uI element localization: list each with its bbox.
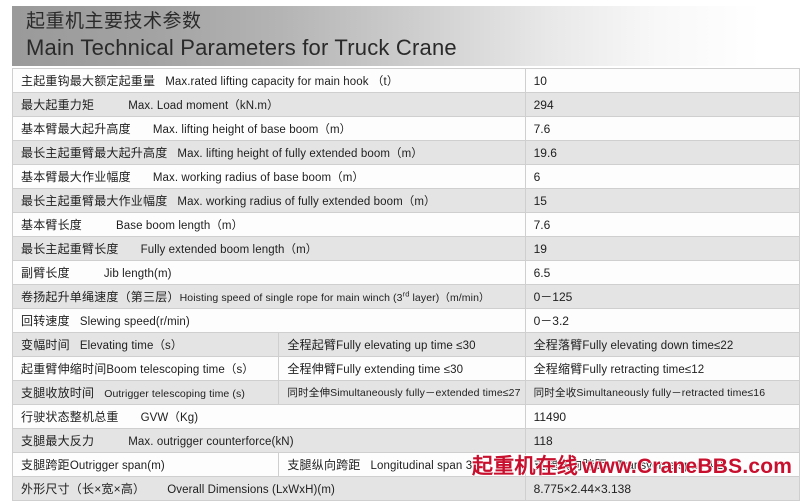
parameter-value-cell: 11490 xyxy=(525,405,799,429)
timing-sim-retract-en: Simultaneously fully－retracted time≤16 xyxy=(576,387,765,399)
table-row: 变幅时间Elevating time（s） 全程起臂Fully elevatin… xyxy=(13,333,800,357)
parameter-label-en: Base boom length（m） xyxy=(116,220,243,232)
timing-down-cn: 全程落臂 xyxy=(534,338,583,352)
parameter-label-en: Max.rated lifting capacity for main hook… xyxy=(165,76,398,88)
longitudinal-span-cn: 支腿纵向跨距 xyxy=(287,458,360,472)
table-row: 最长主起重臂最大起升高度Max. lifting height of fully… xyxy=(13,141,800,165)
parameter-value-cell: 6 xyxy=(525,165,799,189)
table-row: 行驶状态整机总重GVW（Kg) 11490 xyxy=(13,405,800,429)
page-header-banner: 起重机主要技术参数 Main Technical Parameters for … xyxy=(12,6,800,66)
table-row: 基本臂长度Base boom length（m） 7.6 xyxy=(13,213,800,237)
spec-sheet-page: 起重机主要技术参数 Main Technical Parameters for … xyxy=(0,0,800,486)
parameter-label-cn: 外形尺寸（长×宽×高） xyxy=(21,482,145,496)
timing-label-cell: 变幅时间Elevating time（s） xyxy=(13,333,279,357)
parameter-label-cell: 主起重钩最大额定起重量Max.rated lifting capacity fo… xyxy=(13,69,526,93)
parameter-label-cell: 最长主起重臂最大作业幅度Max. working radius of fully… xyxy=(13,189,526,213)
parameter-label-en: Max. working radius of fully extended bo… xyxy=(177,196,435,208)
timing-extend-en: Fully extending time ≤30 xyxy=(336,364,463,376)
parameter-value-cell: 6.5 xyxy=(525,261,799,285)
parameter-value: 19.6 xyxy=(534,146,557,160)
table-row: 基本臂最大起升高度Max. lifting height of base boo… xyxy=(13,117,800,141)
parameter-value-cell: 0－3.2 xyxy=(525,309,799,333)
timing-down-en: Fully elevating down time≤22 xyxy=(582,340,733,352)
parameter-value: 7.6 xyxy=(534,218,551,232)
table-row: 最长主起重臂长度Fully extended boom length（m） 19 xyxy=(13,237,800,261)
parameter-value-cell: 118 xyxy=(525,429,799,453)
parameter-label-en: Jib length(m) xyxy=(104,268,172,280)
timing-retract-en: Fully retracting time≤12 xyxy=(582,364,704,376)
parameter-value: 8.775×2.44×3.138 xyxy=(534,482,631,496)
timing-label-en: Boom telescoping time（s） xyxy=(106,364,254,376)
parameter-label-en: Max. lifting height of base boom（m） xyxy=(153,124,351,136)
parameter-value-cell: 19 xyxy=(525,237,799,261)
table-row: 基本臂最大作业幅度Max. working radius of base boo… xyxy=(13,165,800,189)
parameter-label-cell: 副臂长度Jib length(m) xyxy=(13,261,526,285)
timing-extend-cn: 全程伸臂 xyxy=(287,362,336,376)
parameter-value-cell: 0－125 xyxy=(525,285,799,309)
page-title-chinese: 起重机主要技术参数 xyxy=(26,9,800,34)
parameter-label-cn: 最长主起重臂长度 xyxy=(21,242,119,256)
parameter-label-cell: 基本臂最大作业幅度Max. working radius of base boo… xyxy=(13,165,526,189)
transverse-span-cell: 支腿横向跨距Transverse span 4.2 xyxy=(525,453,799,477)
timing-label-cn: 变幅时间 xyxy=(21,338,70,352)
parameter-label-en: Max. working radius of base boom（m） xyxy=(153,172,364,184)
parameter-label-cell: 卷扬起升单绳速度（第三层）Hoisting speed of single ro… xyxy=(13,285,526,309)
table-row: 最长主起重臂最大作业幅度Max. working radius of fully… xyxy=(13,189,800,213)
parameter-value-cell: 10 xyxy=(525,69,799,93)
timing-label-en: Outrigger telescoping time (s) xyxy=(104,388,245,400)
timing-label-cell: 支腿收放时间Outrigger telescoping time (s) xyxy=(13,381,279,405)
table-row: 外形尺寸（长×宽×高）Overall Dimensions (LxWxH)(m)… xyxy=(13,477,800,501)
timing-up-en: Fully elevating up time ≤30 xyxy=(336,340,475,352)
parameter-value: 0－3.2 xyxy=(534,314,569,328)
parameter-label-cn: 基本臂最大作业幅度 xyxy=(21,170,131,184)
transverse-span-cn: 支腿横向跨距 xyxy=(534,458,607,472)
parameter-label-cn: 最长主起重臂最大起升高度 xyxy=(21,146,167,160)
parameter-label-cell: 基本臂最大起升高度Max. lifting height of base boo… xyxy=(13,117,526,141)
parameter-value-cell: 7.6 xyxy=(525,117,799,141)
timing-sim-extend-en: Simultaneously fully－extended time≤27 xyxy=(330,387,520,399)
timing-retract-cell: 全程缩臂Fully retracting time≤12 xyxy=(525,357,799,381)
timing-sim-extend-cn: 同时全伸 xyxy=(287,387,330,399)
parameter-label-cn: 主起重钩最大额定起重量 xyxy=(21,74,155,88)
table-row: 主起重钩最大额定起重量Max.rated lifting capacity fo… xyxy=(13,69,800,93)
parameter-label-cell: 行驶状态整机总重GVW（Kg) xyxy=(13,405,526,429)
parameter-value-cell: 15 xyxy=(525,189,799,213)
parameter-value: 15 xyxy=(534,194,547,208)
timing-label-cn: 支腿收放时间 xyxy=(21,386,94,400)
parameter-label-cn: 最长主起重臂最大作业幅度 xyxy=(21,194,167,208)
timing-up-cn: 全程起臂 xyxy=(287,338,336,352)
parameter-value: 0－125 xyxy=(534,290,573,304)
parameter-label-cn: 回转速度 xyxy=(21,314,70,328)
parameter-label-cn: 最大起重力矩 xyxy=(21,98,94,112)
page-title-english: Main Technical Parameters for Truck Cran… xyxy=(26,34,800,62)
timing-sim-retract-cn: 同时全收 xyxy=(534,387,577,399)
parameter-label-cn: 行驶状态整机总重 xyxy=(21,410,119,424)
parameter-value: 294 xyxy=(534,98,554,112)
parameter-label-en: Max. lifting height of fully extended bo… xyxy=(177,148,422,160)
parameter-label-en: Slewing speed(r/min) xyxy=(80,316,190,328)
parameter-label-cell: 最长主起重臂长度Fully extended boom length（m） xyxy=(13,237,526,261)
parameter-value-cell: 7.6 xyxy=(525,213,799,237)
parameter-label-en: Fully extended boom length（m） xyxy=(141,244,318,256)
parameter-label-cn: 基本臂最大起升高度 xyxy=(21,122,131,136)
parameter-label-cell: 最大起重力矩Max. Load moment（kN.m） xyxy=(13,93,526,117)
parameter-label-cell: 最长主起重臂最大起升高度Max. lifting height of fully… xyxy=(13,141,526,165)
timing-label-en: Elevating time（s） xyxy=(80,340,183,352)
parameter-label-cn: 支腿最大反力 xyxy=(21,434,94,448)
table-row: 支腿收放时间Outrigger telescoping time (s) 同时全… xyxy=(13,381,800,405)
timing-label-cn: 起重臂伸缩时间 xyxy=(21,362,106,376)
table-row: 支腿跨距Outrigger span(m) 支腿纵向跨距Longitudinal… xyxy=(13,453,800,477)
longitudinal-span-cell: 支腿纵向跨距Longitudinal span 3.8 xyxy=(279,453,525,477)
parameter-value: 6 xyxy=(534,170,541,184)
parameter-value: 7.6 xyxy=(534,122,551,136)
timing-down-cell: 全程落臂Fully elevating down time≤22 xyxy=(525,333,799,357)
parameter-label-cn: 基本臂长度 xyxy=(21,218,82,232)
technical-parameters-table: 主起重钩最大额定起重量Max.rated lifting capacity fo… xyxy=(12,68,800,501)
table-row: 最大起重力矩Max. Load moment（kN.m） 294 xyxy=(13,93,800,117)
parameter-label-en: Hoisting speed of single rope for main w… xyxy=(180,292,490,304)
parameter-label-en: Max. Load moment（kN.m） xyxy=(128,100,278,112)
parameter-value: 10 xyxy=(534,74,547,88)
table-row: 支腿最大反力Max. outrigger counterforce(kN) 11… xyxy=(13,429,800,453)
parameter-value-cell: 294 xyxy=(525,93,799,117)
table-row: 起重臂伸缩时间Boom telescoping time（s） 全程伸臂Full… xyxy=(13,357,800,381)
span-label-cn: 支腿跨距 xyxy=(21,458,70,472)
parameter-value: 118 xyxy=(534,434,553,448)
parameter-label-cell: 外形尺寸（长×宽×高）Overall Dimensions (LxWxH)(m) xyxy=(13,477,526,501)
transverse-span-en: Transverse span 4.2 xyxy=(617,460,723,472)
parameter-value: 11490 xyxy=(534,410,566,424)
parameter-label-en: Max. outrigger counterforce(kN) xyxy=(128,436,293,448)
parameter-label-en: GVW（Kg) xyxy=(141,412,199,424)
parameter-value-cell: 19.6 xyxy=(525,141,799,165)
timing-label-cell: 起重臂伸缩时间Boom telescoping time（s） xyxy=(13,357,279,381)
table-row: 副臂长度Jib length(m) 6.5 xyxy=(13,261,800,285)
parameter-label-cell: 支腿最大反力Max. outrigger counterforce(kN) xyxy=(13,429,526,453)
parameter-label-cell: 基本臂长度Base boom length（m） xyxy=(13,213,526,237)
timing-sim-retract-cell: 同时全收Simultaneously fully－retracted time≤… xyxy=(525,381,799,405)
timing-retract-cn: 全程缩臂 xyxy=(534,362,583,376)
span-label-en: Outrigger span(m) xyxy=(70,460,165,472)
timing-extend-cell: 全程伸臂Fully extending time ≤30 xyxy=(279,357,525,381)
parameter-value-cell: 8.775×2.44×3.138 xyxy=(525,477,799,501)
timing-up-cell: 全程起臂Fully elevating up time ≤30 xyxy=(279,333,525,357)
parameter-label-cn: 副臂长度 xyxy=(21,266,70,280)
parameter-value: 19 xyxy=(534,242,547,256)
timing-sim-extend-cell: 同时全伸Simultaneously fully－extended time≤2… xyxy=(279,381,525,405)
table-row: 卷扬起升单绳速度（第三层）Hoisting speed of single ro… xyxy=(13,285,800,309)
parameter-value: 6.5 xyxy=(534,266,551,280)
table-row: 回转速度Slewing speed(r/min) 0－3.2 xyxy=(13,309,800,333)
span-label-cell: 支腿跨距Outrigger span(m) xyxy=(13,453,279,477)
longitudinal-span-en: Longitudinal span 3.8 xyxy=(371,460,482,472)
parameter-label-cell: 回转速度Slewing speed(r/min) xyxy=(13,309,526,333)
parameter-label-cn: 卷扬起升单绳速度（第三层） xyxy=(21,290,180,304)
